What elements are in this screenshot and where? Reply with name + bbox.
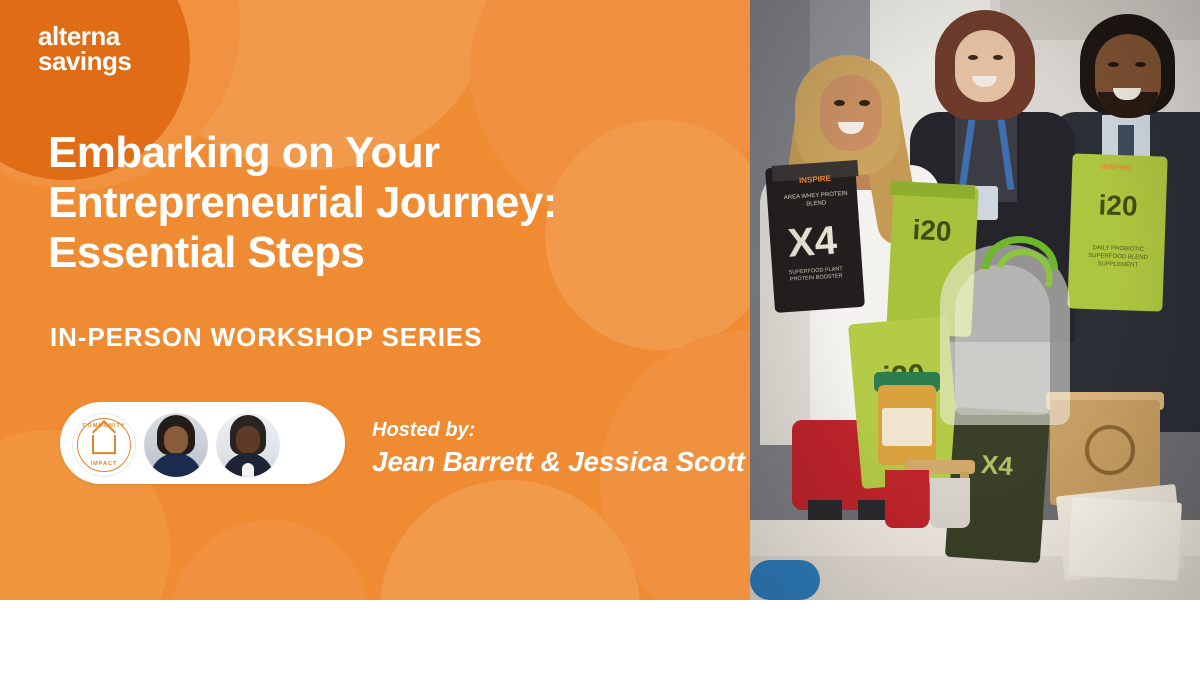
avatar-face (236, 426, 260, 454)
hosts-avatar-group: COMMUNITY IMPACT (60, 402, 345, 484)
hosted-by-label: Hosted by: (372, 419, 475, 442)
logo-line-2: savings (38, 49, 131, 74)
event-photo: INSPIRE AREA WHEY PROTEIN BLEND X4 SUPER… (750, 0, 1200, 600)
bottom-white-bar (0, 600, 1200, 675)
community-impact-text-bottom: IMPACT (73, 461, 135, 467)
avatar (214, 411, 282, 479)
decorative-circle (170, 520, 370, 600)
community-impact-logo-avatar: COMMUNITY IMPACT (70, 411, 138, 479)
community-impact-logo: COMMUNITY IMPACT (72, 413, 136, 477)
host-names: Jean Barrett & Jessica Scott (372, 446, 745, 478)
avatar-collar (242, 463, 254, 477)
banner-left-panel: alterna savings Embarking on Your Entrep… (0, 0, 750, 600)
host-jessica-scott-photo (216, 413, 280, 477)
avatar-face (164, 426, 188, 454)
page-title: Embarking on Your Entrepreneurial Journe… (48, 128, 728, 278)
avatar (142, 411, 210, 479)
subtitle: IN-PERSON WORKSHOP SERIES (50, 322, 482, 353)
host-jean-barrett-photo (144, 413, 208, 477)
event-banner: alterna savings Embarking on Your Entrep… (0, 0, 1200, 600)
alterna-savings-logo: alterna savings (38, 24, 131, 74)
community-impact-text-top: COMMUNITY (73, 423, 135, 429)
decorative-circle (380, 480, 640, 600)
photo-vignette (750, 0, 1200, 600)
